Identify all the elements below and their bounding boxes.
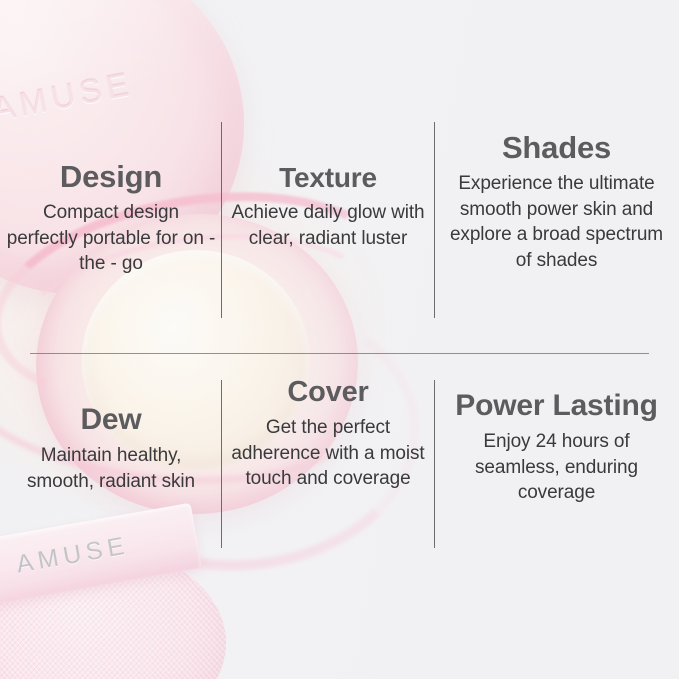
feature-cover: Cover Get the perfect adherence with a m… [230, 377, 426, 492]
feature-title-design: Design [6, 160, 216, 193]
feature-description-texture: Achieve daily glow with clear, radiant l… [230, 200, 426, 251]
feature-description-dew: Maintain healthy, smooth, radiant skin [6, 443, 216, 494]
feature-title-shades: Shades [444, 131, 669, 164]
feature-shades: Shades Experience the ultimate smooth po… [444, 131, 669, 273]
feature-description-design: Compact design perfectly portable for on… [6, 200, 216, 276]
feature-description-shades: Experience the ultimate smooth power ski… [444, 171, 669, 273]
feature-title-power-lasting: Power Lasting [444, 390, 669, 422]
feature-grid: Design Compact design perfectly portable… [0, 0, 679, 679]
feature-design: Design Compact design perfectly portable… [6, 160, 216, 277]
feature-power-lasting: Power Lasting Enjoy 24 hours of seamless… [444, 390, 669, 506]
feature-description-power-lasting: Enjoy 24 hours of seamless, enduring cov… [444, 429, 669, 505]
feature-title-cover: Cover [230, 377, 426, 408]
feature-title-texture: Texture [230, 163, 426, 193]
product-feature-infographic: AMUSE AMUSE Design Compact design perfec… [0, 0, 679, 679]
feature-title-dew: Dew [6, 404, 216, 436]
feature-texture: Texture Achieve daily glow with clear, r… [230, 163, 426, 251]
feature-dew: Dew Maintain healthy, smooth, radiant sk… [6, 404, 216, 494]
feature-description-cover: Get the perfect adherence with a moist t… [230, 415, 426, 491]
